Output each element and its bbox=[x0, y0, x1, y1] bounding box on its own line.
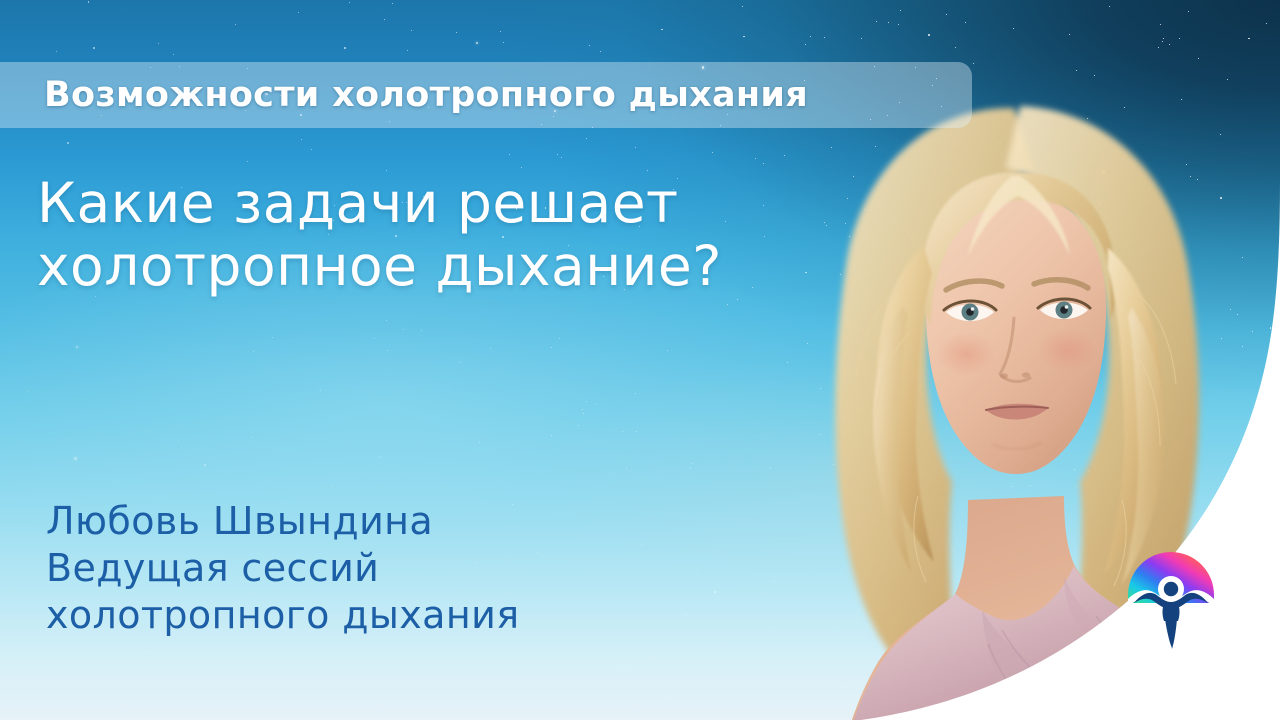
speaker-credit: Любовь Швындина Ведущая сессий холотропн… bbox=[46, 498, 666, 639]
presentation-slide: Возможности холотропного дыхания Какие з… bbox=[0, 0, 1280, 720]
topic-banner: Возможности холотропного дыхания bbox=[0, 62, 972, 128]
headline-line-1: Какие задачи решает bbox=[37, 172, 837, 235]
speaker-name: Любовь Швындина bbox=[46, 498, 666, 545]
speaker-role-line-2: холотропного дыхания bbox=[46, 592, 666, 639]
headline-line-2: холотропное дыхание? bbox=[37, 235, 837, 298]
topic-banner-text: Возможности холотропного дыхания bbox=[44, 75, 808, 115]
page-title: Какие задачи решает холотропное дыхание? bbox=[37, 172, 837, 297]
brand-logo[interactable] bbox=[1124, 533, 1218, 651]
speaker-role-line-1: Ведущая сессий bbox=[46, 545, 666, 592]
rainbow-dome-person-icon bbox=[1124, 533, 1218, 651]
